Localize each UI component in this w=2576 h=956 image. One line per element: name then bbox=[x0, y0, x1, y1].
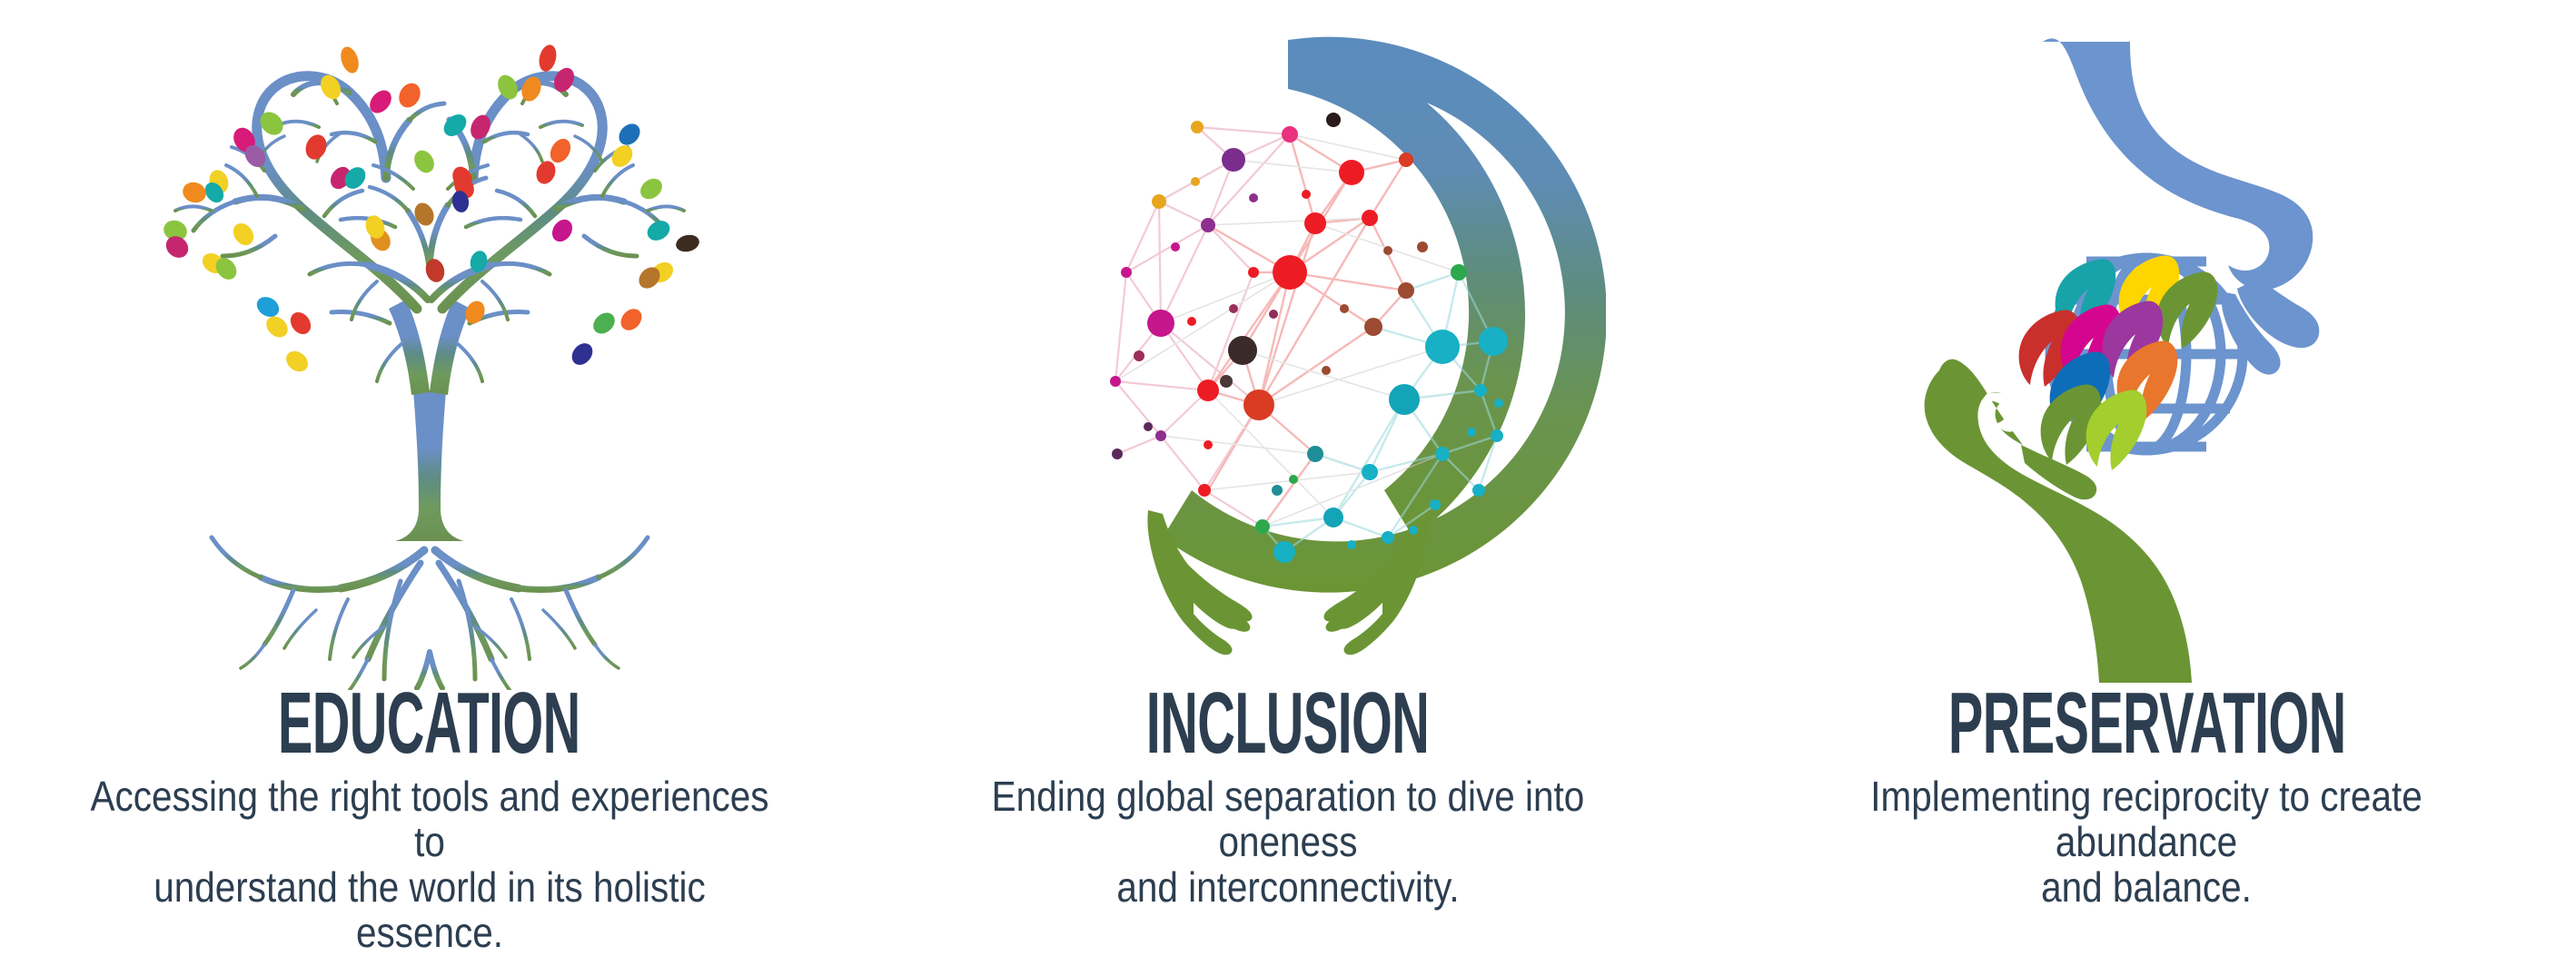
three-pillar-graphic: EDUCATION Accessing the right tools and … bbox=[0, 0, 2576, 910]
desc-row-education: Accessing the right tools and experience… bbox=[0, 774, 858, 955]
pillar-description-inclusion: Ending global separation to dive into on… bbox=[928, 774, 1648, 910]
heart-tree-svg bbox=[112, 0, 748, 690]
title-row-education: EDUCATION bbox=[0, 690, 858, 757]
pillar-description-education: Accessing the right tools and experience… bbox=[70, 774, 789, 955]
network-globe-svg bbox=[970, 0, 1606, 690]
pillar-title-inclusion: INCLUSION bbox=[1146, 690, 1429, 757]
pillar-card-inclusion: INCLUSION Ending global separation to di… bbox=[858, 0, 1717, 910]
pillar-description-preservation: Implementing reciprocity to create abund… bbox=[1787, 774, 2506, 910]
pillar-title-education: EDUCATION bbox=[278, 690, 580, 757]
pillar-card-preservation: PRESERVATION Implementing reciprocity to… bbox=[1718, 0, 2576, 910]
desc-row-inclusion: Ending global separation to dive into on… bbox=[858, 774, 1717, 910]
title-row-inclusion: INCLUSION bbox=[858, 690, 1717, 757]
desc-row-preservation: Implementing reciprocity to create abund… bbox=[1718, 774, 2576, 910]
hands-globe-svg bbox=[1865, 0, 2428, 690]
hands-holding-globe-with-leaves-icon bbox=[1718, 0, 2576, 690]
heart-tree-with-roots-icon bbox=[0, 0, 858, 690]
tree-leaves-group bbox=[161, 43, 701, 376]
pillar-card-education: EDUCATION Accessing the right tools and … bbox=[0, 0, 858, 910]
title-row-preservation: PRESERVATION bbox=[1718, 690, 2576, 757]
pillar-title-preservation: PRESERVATION bbox=[1947, 690, 2345, 757]
network-globe-in-arms-icon bbox=[858, 0, 1717, 690]
